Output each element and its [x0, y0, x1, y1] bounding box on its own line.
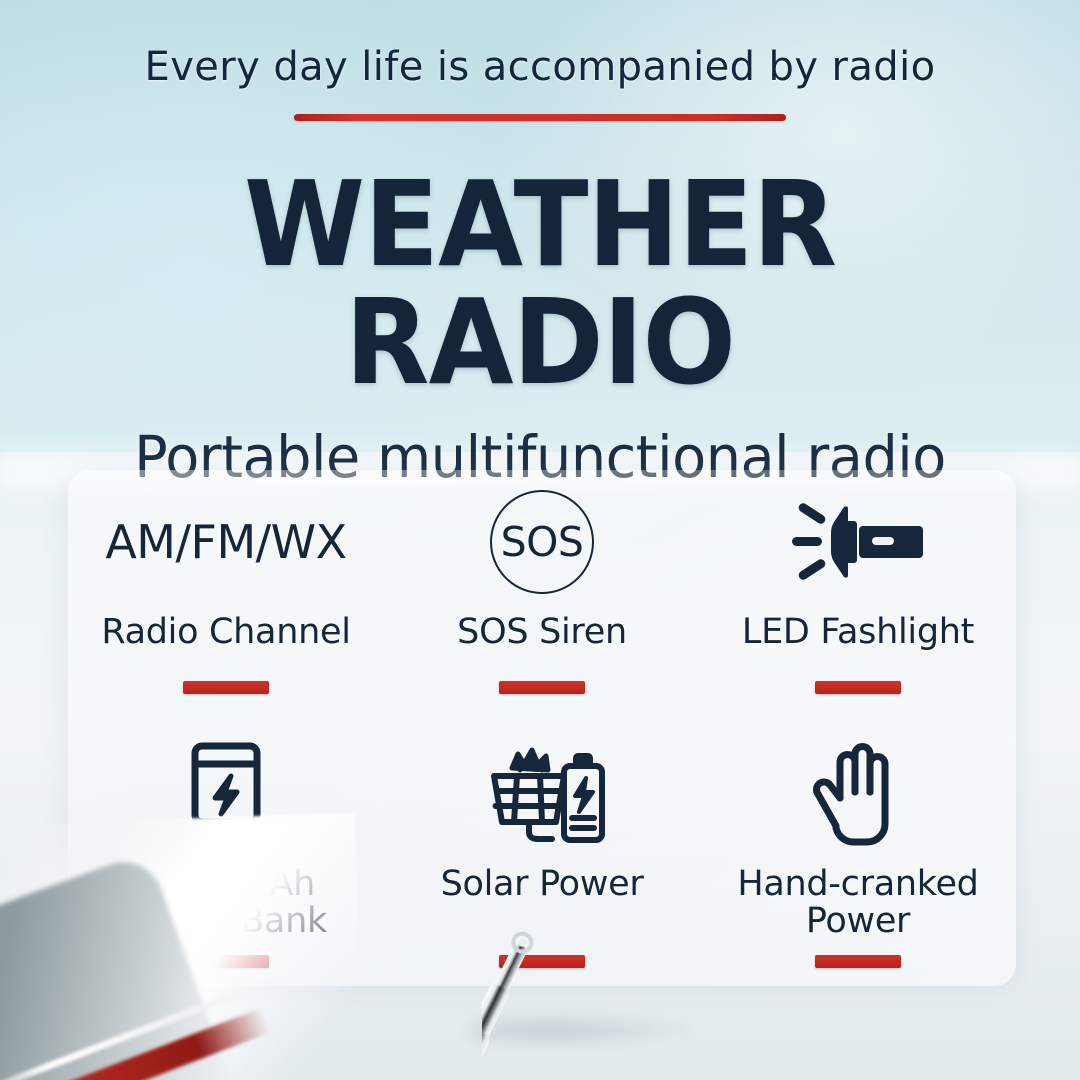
power-bank-icon [171, 738, 281, 850]
sos-circle-icon: SOS [490, 484, 594, 600]
accent-bar [183, 681, 269, 694]
am-fm-wx-text-icon: AM/FM/WX [105, 484, 346, 600]
feature-item-hand-cranked-power: Hand-cranked Power [700, 728, 1016, 986]
flashlight-icon [788, 484, 928, 600]
feature-label: SOS Siren [457, 614, 627, 651]
feature-label: Solar Power [441, 866, 644, 903]
feature-label: Radio Channel [101, 614, 350, 651]
sos-circle-outline: SOS [490, 490, 594, 594]
feature-label: 2000 mAh Power Bank [125, 866, 327, 941]
accent-bar [499, 955, 585, 968]
product-poster: Every day life is accompanied by radio W… [0, 0, 1080, 1080]
tagline-underline [294, 114, 786, 121]
feature-card: AM/FM/WX Radio Channel SOS SOS Siren [68, 470, 1016, 986]
accent-bar [499, 681, 585, 694]
tagline: Every day life is accompanied by radio [0, 44, 1080, 90]
feature-item-power-bank: 2000 mAh Power Bank [68, 728, 384, 986]
accent-bar [815, 681, 901, 694]
antenna-shadow [470, 1010, 700, 1050]
feature-item-led-flashlight: LED Fashlight [700, 470, 1016, 728]
feature-item-sos-siren: SOS SOS Siren [384, 470, 700, 728]
solar-battery-icon [472, 738, 612, 850]
accent-bar [815, 955, 901, 968]
am-fm-wx-label: AM/FM/WX [105, 515, 346, 569]
feature-item-solar-power: Solar Power [384, 728, 700, 986]
feature-label: LED Fashlight [742, 614, 974, 651]
poster-header: Every day life is accompanied by radio W… [0, 44, 1080, 491]
feature-item-radio-channel: AM/FM/WX Radio Channel [68, 470, 384, 728]
page-title: WEATHER RADIO [38, 165, 1042, 401]
feature-label: Hand-cranked Power [737, 866, 978, 941]
hand-icon [806, 738, 910, 850]
sos-text: SOS [501, 518, 584, 566]
accent-bar [183, 955, 269, 968]
